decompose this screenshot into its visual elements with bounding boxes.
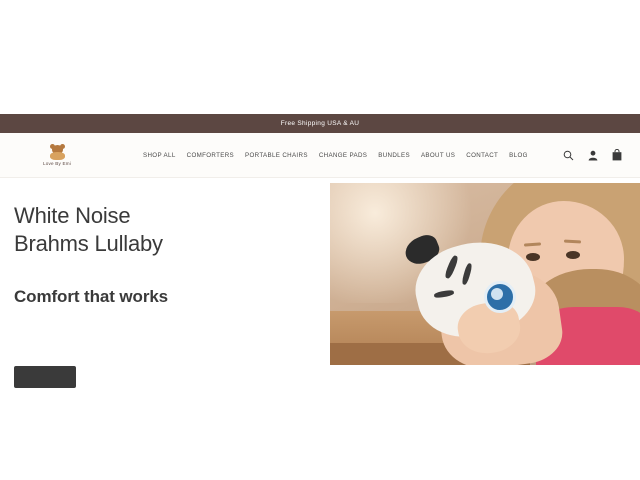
hero-heading-line-2: Brahms Lullaby <box>14 230 314 258</box>
hero-subheading: Comfort that works <box>14 286 314 308</box>
logo-text: Love By Emi <box>43 161 71 166</box>
shopping-bag-icon[interactable] <box>611 149 622 161</box>
hero-heading-line-1: White Noise <box>14 202 314 230</box>
hero-copy: White Noise Brahms Lullaby Comfort that … <box>14 202 314 308</box>
site-logo[interactable]: Love By Emi <box>26 140 88 170</box>
nav-bundles[interactable]: BUNDLES <box>378 152 410 159</box>
account-icon[interactable] <box>587 149 598 161</box>
hero-cta-button[interactable] <box>14 366 76 388</box>
nav-portable-chairs[interactable]: PORTABLE CHAIRS <box>245 152 308 159</box>
nav-comforters[interactable]: COMFORTERS <box>187 152 234 159</box>
browser-viewport: Free Shipping USA & AU Love By Emi SHOP … <box>0 0 640 480</box>
nav-contact[interactable]: CONTACT <box>466 152 498 159</box>
nav-change-pads[interactable]: CHANGE PADS <box>319 152 367 159</box>
main-navigation: SHOP ALL COMFORTERS PORTABLE CHAIRS CHAN… <box>143 133 528 177</box>
announcement-text: Free Shipping USA & AU <box>281 120 360 127</box>
bear-logo-icon <box>49 145 66 160</box>
hero-section: White Noise Brahms Lullaby Comfort that … <box>0 178 640 480</box>
site-header: Love By Emi SHOP ALL COMFORTERS PORTABLE… <box>0 133 640 178</box>
header-icon-group <box>563 133 622 177</box>
hero-heading: White Noise Brahms Lullaby <box>14 202 314 258</box>
nav-shop-all[interactable]: SHOP ALL <box>143 152 176 159</box>
search-icon[interactable] <box>563 149 574 161</box>
nav-about-us[interactable]: ABOUT US <box>421 152 455 159</box>
hero-image <box>330 183 640 365</box>
nav-blog[interactable]: BLOG <box>509 152 528 159</box>
announcement-bar: Free Shipping USA & AU <box>0 114 640 133</box>
